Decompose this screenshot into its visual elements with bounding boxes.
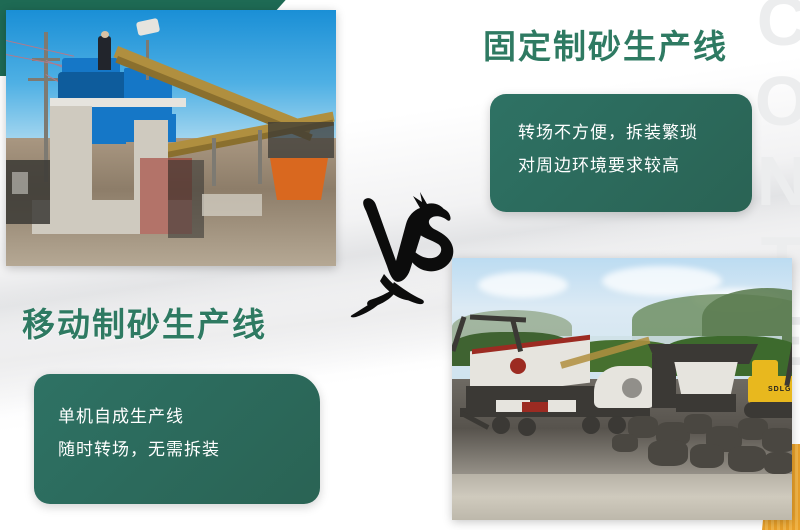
excavator-track [744,402,792,418]
tank-shadow [168,160,204,238]
rock [764,452,792,474]
rock [762,428,792,452]
mobile-line-title: 移动制砂生产线 [22,298,267,346]
rock [690,444,724,468]
rock [728,446,766,472]
trailer-wheel [608,416,626,434]
brand-plate [522,402,548,412]
comparison-banner: CONTE [0,0,800,530]
trailer-wheel [492,416,510,434]
versus-mark [350,178,460,318]
trailer-wheel [582,416,600,434]
screen-drive-wheel [510,358,526,374]
feed-hopper [670,362,742,396]
cloud [478,272,568,298]
mobile-line-points-panel: 单机自成生产线 随时转场，无需拆装 [34,374,320,504]
mobile-point-1: 单机自成生产线 [58,400,320,433]
concrete-slab [202,194,262,216]
hopper-frame [676,394,736,412]
conveyor-support [212,138,216,186]
shed-window [12,172,28,194]
stationary-line-title: 固定制砂生产线 [483,20,728,68]
stationary-line-points-panel: 转场不方便，拆装繁琐 对周边环境要求较高 [490,94,752,212]
rock [612,434,638,452]
stationary-plant-photo [6,10,336,266]
excavator-cab [752,360,778,380]
stationary-point-1: 转场不方便，拆装繁琐 [518,116,752,149]
rock [648,440,688,466]
crusher-flywheel [622,378,642,398]
feed-hopper-roof [648,344,758,364]
worker-figure [98,36,111,70]
trailer-wheel [518,418,536,436]
gravel-road [452,474,792,520]
orange-hopper [270,158,328,200]
side-panel [548,400,576,412]
stationary-point-2: 对周边环境要求较高 [518,149,752,182]
conveyor-support [258,130,262,184]
screen-deck [268,122,334,158]
worker-head [101,31,109,38]
mobile-point-2: 随时转场，无需拆装 [58,433,320,466]
excavator-brand-label: SDLG [768,386,791,393]
mobile-plant-photo: SDLG [452,258,792,520]
